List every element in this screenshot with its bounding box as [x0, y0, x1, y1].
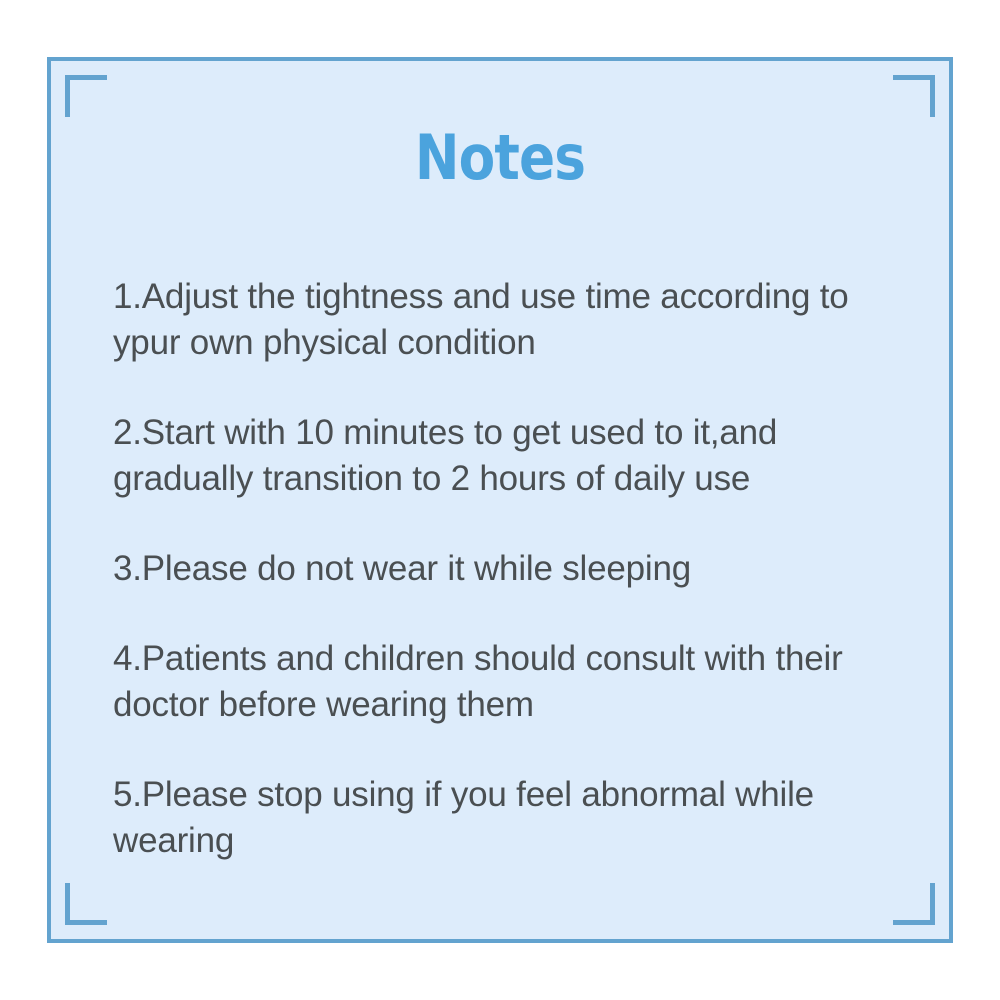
list-item: 4.Patients and children should consult w… [113, 636, 897, 728]
list-item: 1.Adjust the tightness and use time acco… [113, 274, 897, 366]
corner-bracket-bottom-left-icon [65, 883, 107, 925]
corner-bracket-top-left-icon [65, 75, 107, 117]
corner-bracket-top-right-icon [893, 75, 935, 117]
list-item: 2.Start with 10 minutes to get used to i… [113, 410, 897, 502]
notes-list: 1.Adjust the tightness and use time acco… [113, 239, 897, 864]
corner-bracket-bottom-right-icon [893, 883, 935, 925]
page-title: Notes [114, 127, 886, 189]
list-item: 3.Please do not wear it while sleeping [113, 546, 897, 592]
list-item: 5.Please stop using if you feel abnormal… [113, 772, 897, 864]
notes-card: Notes 1.Adjust the tightness and use tim… [47, 57, 953, 943]
